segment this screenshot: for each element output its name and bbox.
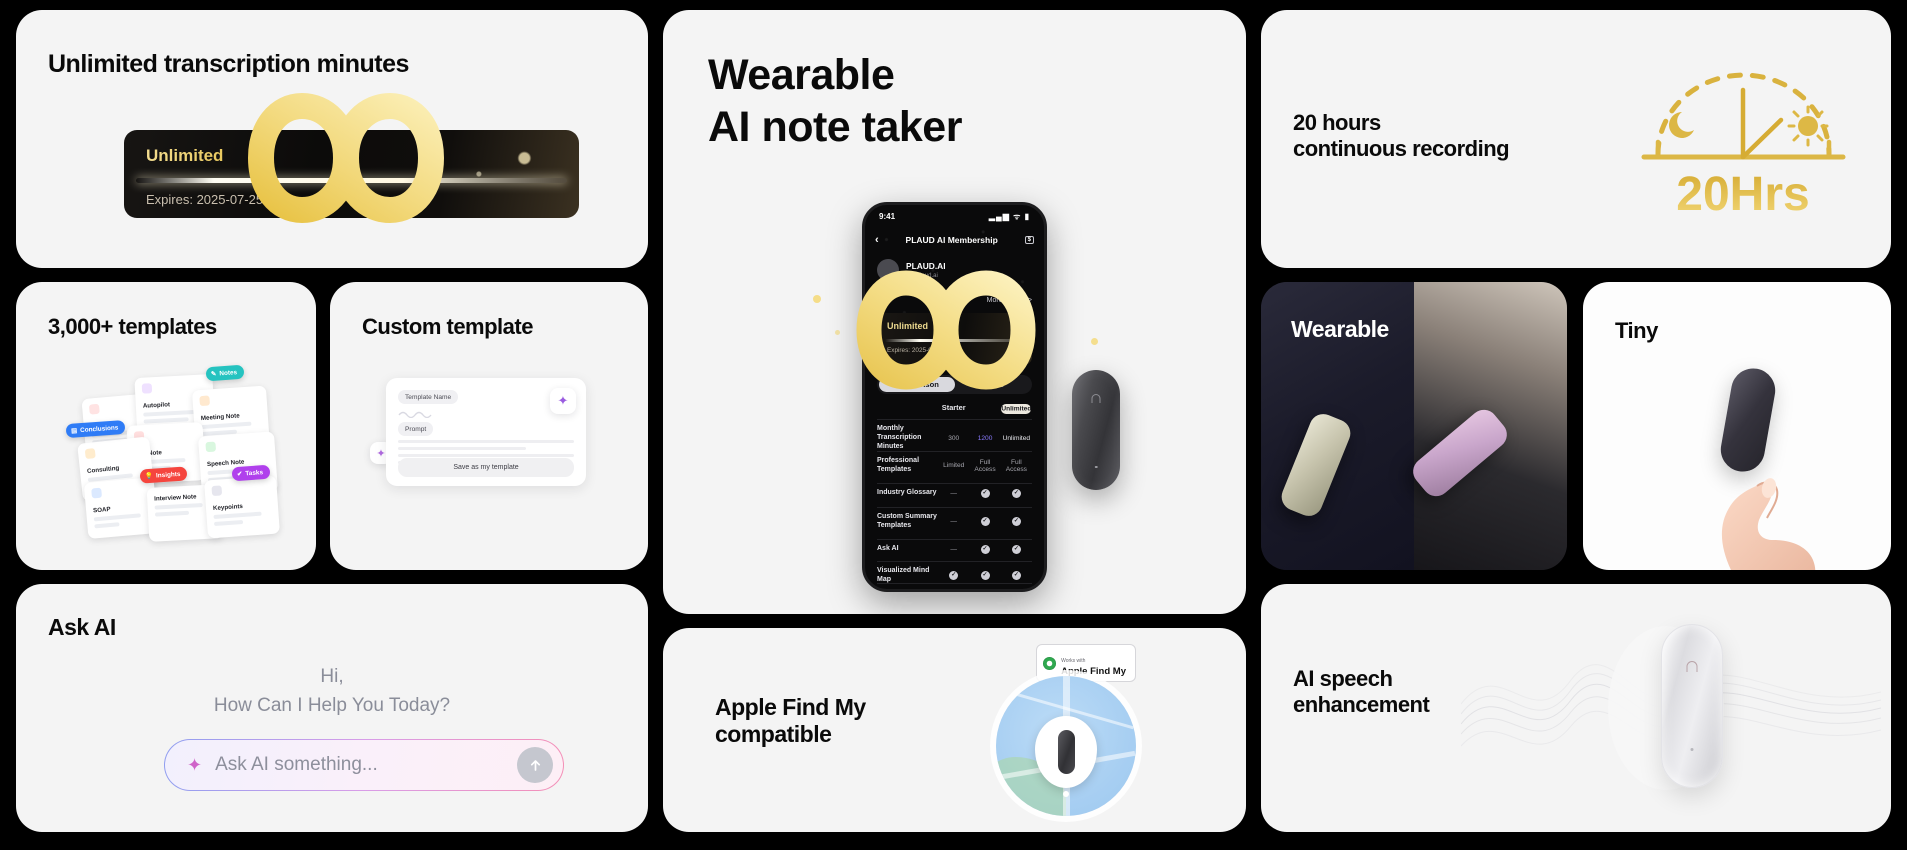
check-icon: ✓ [1012,489,1021,498]
row-check: ✓ [938,589,969,592]
card-custom-template: Custom template ✦ Template Name Prompt ✦… [330,282,648,570]
card-wearable-photo: Wearable [1261,282,1567,570]
check-icon: ✓ [981,571,990,580]
row-value: — [938,518,969,525]
card-ask-ai: Ask AI Hi, How Can I Help You Today? ✦ A… [16,584,648,832]
check-icon: ✓ [981,489,990,498]
pill-label: Insights [156,470,181,479]
map-pin [1035,716,1097,788]
pill-notes: ✎ Notes [206,365,245,382]
row-check: ✓ [1001,545,1032,554]
card-templates: 3,000+ templates Lecture Autopilot Meeti… [16,282,316,570]
template-icon [85,448,96,459]
nav-title: PLAUD AI Membership [906,235,998,245]
squiggle-icon [398,410,438,418]
pill-label: Conclusions [80,424,119,434]
card-tiny: Tiny [1583,282,1891,570]
table-row: Speaker Labels ✓ ✓ ✓ [877,583,1032,592]
template-icon [205,442,216,453]
row-check: ✓ [1001,489,1032,498]
map-dot [1063,791,1069,797]
sparkle-icon: ✦ [187,755,202,776]
card-find-my: Apple Find My compatible Works with Appl… [663,628,1246,832]
device-led-dot [1095,466,1098,469]
card-title: Wearable [1291,316,1389,343]
check-icon: ✓ [981,589,990,592]
card-title: Ask AI [48,614,116,641]
row-check: ✓ [969,545,1000,554]
send-button[interactable] [517,747,553,783]
row-check: ✓ [969,589,1000,592]
row-check: ✓ [1001,517,1032,526]
template-line [143,410,198,417]
infinity-icon-hero [804,255,1104,405]
check-icon: ✓ [1012,545,1021,554]
receipt-icon[interactable]: $ [1025,236,1034,244]
row-check: ✓ [969,517,1000,526]
card-ai-speech: AI speech enhancement [1261,584,1891,832]
find-my-icon [1043,657,1056,670]
device-silver [1661,624,1723,788]
template-icon [211,485,222,496]
custom-template-panel: Template Name Prompt ✦ Save as my templa… [386,378,586,486]
template-line [213,512,261,519]
prompt-field[interactable]: Prompt [398,422,433,436]
phone-nav-bar: ‹ PLAUD AI Membership $ [865,229,1044,251]
phone-status-bar: 9:41 ▂▄▆ ᯤ ▮ [865,205,1044,227]
table-row: Ask AI — ✓ ✓ [877,539,1032,559]
title-line-2: compatible [715,721,866,748]
device-led-dot [1691,748,1694,751]
card-wearable-hero: Wearable AI note taker 9:41 ▂▄▆ ᯤ ▮ ‹ PL… [663,10,1246,614]
template-line [214,520,243,526]
title-line-1: Apple Find My [715,694,866,721]
pencil-icon: ✎ [211,370,217,378]
template-name: SOAP [93,503,149,515]
prompt-line [398,447,526,450]
sparkle-icon-right[interactable]: ✦ [550,388,576,414]
hero-title-line-1: Wearable [708,50,962,102]
row-value: Unlimited [1001,435,1032,442]
row-check: ✓ [1001,571,1032,580]
ai-greeting: Hi, How Can I Help You Today? [16,662,648,721]
device-icon [1058,730,1075,774]
row-feature: Custom Summary Templates [877,513,938,531]
template-stack: Lecture Autopilot Meeting Note Call Note [84,374,274,534]
doc-icon: ▤ [71,426,78,434]
card-unlimited-minutes: Unlimited transcription minutes Unlimite… [16,10,648,268]
ask-ai-input[interactable]: ✦ Ask AI something... [164,739,564,791]
check-icon: ✓ [949,589,958,592]
template-name: Meeting Note [201,411,261,422]
table-row: Custom Summary Templates — ✓ ✓ [877,507,1032,536]
row-value: 300 [938,435,969,442]
hours-label: 20Hrs [1676,168,1809,219]
feature-grid: Unlimited transcription minutes Unlimite… [0,0,1907,850]
row-value: — [938,490,969,497]
template-line [94,522,119,528]
row-value: 1200 [969,435,1000,442]
card-title: Tiny [1615,318,1658,344]
row-check: ✓ [969,489,1000,498]
template-line [94,513,141,521]
row-check: ✓ [969,571,1000,580]
template-name: Keypoints [213,501,271,512]
pill-tasks: ✔ Tasks [232,465,271,482]
row-check: ✓ [938,571,969,580]
hero-title: Wearable AI note taker [708,50,962,153]
hand-photo [1695,440,1845,570]
check-icon: ✓ [949,571,958,580]
save-as-template-button[interactable]: Save as my template [398,458,574,477]
template-line [155,503,203,510]
pill-label: Notes [219,369,237,377]
title-line-2: enhancement [1293,692,1429,718]
check-icon: ✓ [1012,517,1021,526]
template-name-field[interactable]: Template Name [398,390,458,404]
infinity-icon [186,76,506,241]
status-time: 9:41 [879,212,895,221]
bulb-icon: 💡 [145,472,154,481]
prompt-line [398,454,574,457]
table-row: Professional Templates Limited Full Acce… [877,451,1032,480]
clock-arc-icon: 20Hrs [1636,54,1851,219]
map-graphic [996,676,1136,816]
row-feature: Monthly Transcription Minutes [877,425,938,451]
status-icons: ▂▄▆ ᯤ ▮ [989,211,1030,222]
chevron-left-icon[interactable]: ‹ [875,234,879,246]
check-icon: ✓ [981,545,990,554]
row-feature: Visualized Mind Map [877,567,938,585]
check-circle-icon: ✔ [237,470,243,478]
template-icon [89,404,100,415]
row-value: Limited [938,462,969,469]
title-line-2: continuous recording [1293,136,1509,162]
title-line-1: AI speech [1293,666,1429,692]
card-title: Apple Find My compatible [715,694,866,748]
template-card: Keypoints [204,476,280,539]
template-name: Consulting [87,462,145,475]
title-line-1: 20 hours [1293,110,1509,136]
template-line [201,422,252,430]
check-icon: ✓ [1012,589,1021,592]
card-title: AI speech enhancement [1293,666,1429,718]
card-title: 20 hours continuous recording [1293,110,1509,162]
greeting-line-2: How Can I Help You Today? [16,691,648,720]
prompt-line [398,440,574,443]
template-icon [199,395,210,406]
check-icon: ✓ [1012,571,1021,580]
card-20-hours: 20 hours continuous recording [1261,10,1891,268]
row-value: Full Access [969,459,1000,473]
hero-title-line-2: AI note taker [708,102,962,154]
card-title: Custom template [362,314,533,340]
greeting-line-1: Hi, [16,662,648,691]
row-check: ✓ [1001,589,1032,592]
table-row: Industry Glossary — ✓ ✓ [877,483,1032,503]
ask-ai-placeholder: Ask AI something... [215,754,504,776]
arrow-up-icon [527,757,544,774]
template-icon [91,488,102,499]
template-icon [142,383,153,394]
brand-logo-icon [1687,661,1698,672]
row-feature: Ask AI [877,545,938,554]
row-feature: Professional Templates [877,457,938,475]
row-value: — [938,546,969,553]
row-feature: Speaker Labels [877,589,938,592]
card-title: 3,000+ templates [48,314,217,340]
row-value: Full Access [1001,459,1032,473]
badge-small-text: Works with [1061,658,1085,664]
template-line [155,511,189,517]
pill-label: Tasks [245,469,263,477]
check-icon: ✓ [981,517,990,526]
row-feature: Industry Glossary [877,489,938,498]
